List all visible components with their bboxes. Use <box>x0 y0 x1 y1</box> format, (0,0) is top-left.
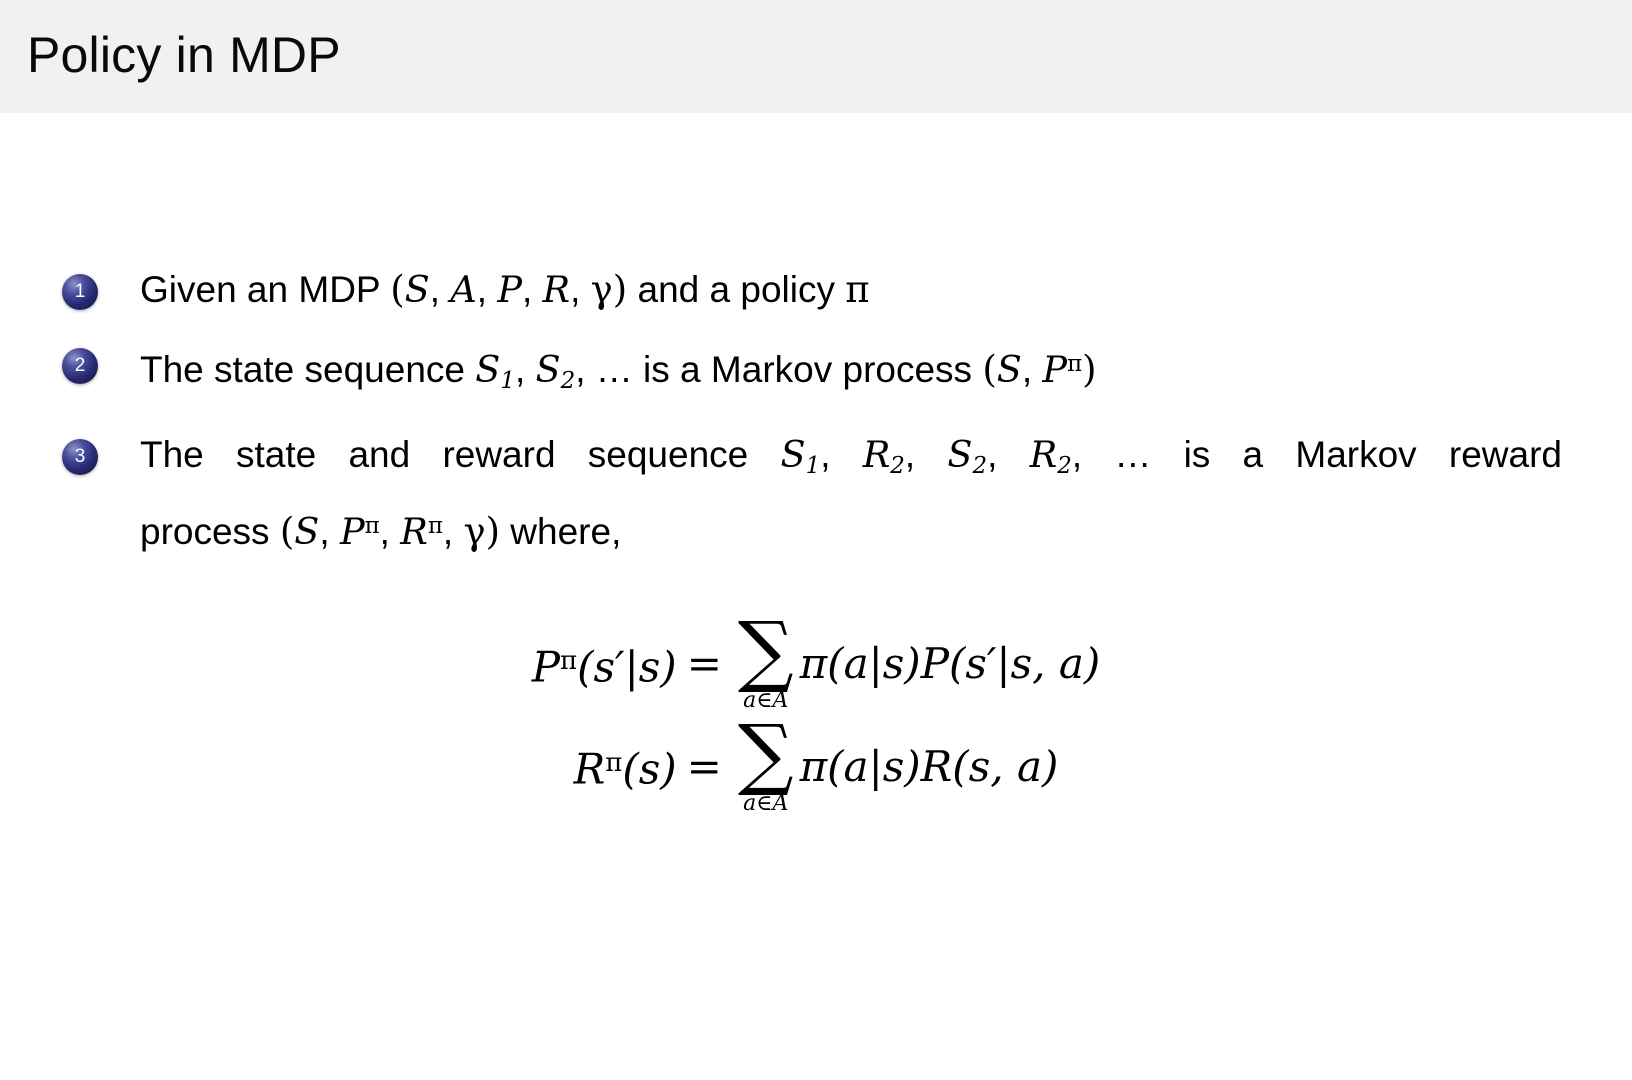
bullet-number-ball-icon: 1 <box>62 274 98 310</box>
list-item: 3 The state and reward sequence S1, R2, … <box>62 425 1562 562</box>
math-symbol-R: R <box>543 268 571 311</box>
math-paren-close: ) <box>613 268 627 311</box>
math-superscript-pi: π <box>1067 351 1082 377</box>
equation-transition-kernel: Pπ(s′|s) = ∑ a∈A π(a|s)P(s′|s, a) <box>0 613 1632 715</box>
math-subscript-1: 1 <box>500 368 515 394</box>
math-subscript-2: 2 <box>973 453 988 479</box>
enumerated-list: 1 Given an MDP (S, A, P, R, γ) and a pol… <box>62 260 1562 576</box>
text-run: , <box>987 434 1030 475</box>
text-run: , <box>570 269 591 310</box>
math-symbol-pi: π <box>845 268 869 311</box>
equation-lhs-args: (s) <box>622 745 676 794</box>
math-symbol-S: S <box>475 348 500 391</box>
list-item: 2 The state sequence S1, S2, … is a Mark… <box>62 334 1562 411</box>
equation-row: Pπ(s′|s) = ∑ a∈A π(a|s)P(s′|s, a) <box>532 613 1101 715</box>
equation-reward-function: Rπ(s) = ∑ a∈A π(a|s)R(s, a) <box>0 715 1632 817</box>
text-run: , <box>430 269 451 310</box>
math-subscript-2: 2 <box>890 453 905 479</box>
bullet-number-ball-icon: 3 <box>62 439 98 475</box>
math-superscript-pi: π <box>428 513 443 539</box>
text-run: , <box>380 511 401 552</box>
math-paren-open: ( <box>982 348 996 391</box>
math-symbol-S: S <box>536 348 561 391</box>
math-symbol-gamma: γ <box>591 268 613 311</box>
equation-lhs: Rπ(s) <box>574 715 677 817</box>
math-symbol-S: S <box>997 348 1022 391</box>
math-paren-close: ) <box>486 510 500 553</box>
math-symbol-S: S <box>294 510 319 553</box>
math-symbol-A: A <box>450 268 476 311</box>
text-run: , <box>905 434 948 475</box>
page-title: Policy in MDP <box>27 22 341 88</box>
text-run: process <box>140 511 280 552</box>
slide-body: 1 Given an MDP (S, A, P, R, γ) and a pol… <box>0 113 1632 1080</box>
math-symbol-S: S <box>781 433 806 476</box>
text-run: Given an MDP <box>140 269 390 310</box>
math-symbol-R: R <box>1030 433 1058 476</box>
summation-icon: ∑ <box>738 615 794 687</box>
equation-rhs: π(a|s)R(s, a) <box>800 719 1059 815</box>
equation-relation: = <box>677 719 732 815</box>
display-equations: Pπ(s′|s) = ∑ a∈A π(a|s)P(s′|s, a) Rπ(s) … <box>0 613 1632 818</box>
math-symbol-S: S <box>405 268 430 311</box>
equation-lhs-base: R <box>574 745 606 794</box>
math-symbol-P: P <box>497 268 522 311</box>
summation-icon: ∑ <box>738 718 794 790</box>
equation-row: Rπ(s) = ∑ a∈A π(a|s)R(s, a) <box>574 715 1059 817</box>
text-run: , <box>515 349 536 390</box>
math-superscript-pi: π <box>365 513 380 539</box>
math-subscript-2: 2 <box>1057 453 1072 479</box>
list-item: 1 Given an MDP (S, A, P, R, γ) and a pol… <box>62 260 1562 320</box>
summation-subscript: a∈A <box>743 792 788 816</box>
math-symbol-R: R <box>863 433 891 476</box>
math-subscript-2: 2 <box>561 368 576 394</box>
equation-lhs-superscript: π <box>560 646 577 676</box>
list-item-text: Given an MDP (S, A, P, R, γ) and a polic… <box>140 260 1562 320</box>
list-item-line: The state sequence S1, S2, … is a Markov… <box>140 334 1562 411</box>
text-run: , <box>1022 349 1043 390</box>
math-symbol-gamma: γ <box>463 510 485 553</box>
text-run: , <box>522 269 543 310</box>
text-run: The state and reward sequence <box>140 434 781 475</box>
list-item-line: process (S, Pπ, Rπ, γ) where, <box>140 496 1562 562</box>
text-run: , <box>820 434 863 475</box>
text-run: , <box>477 269 498 310</box>
text-run: The state sequence <box>140 349 475 390</box>
list-item-line: Given an MDP (S, A, P, R, γ) and a polic… <box>140 260 1562 320</box>
equation-relation: = <box>677 616 732 712</box>
math-paren-open: ( <box>280 510 294 553</box>
math-paren-close: ) <box>1082 348 1096 391</box>
summation-block: ∑ a∈A <box>738 718 794 816</box>
list-item-text: The state and reward sequence S1, R2, S2… <box>140 425 1562 562</box>
bullet-number-ball-icon: 2 <box>62 348 98 384</box>
math-symbol-P: P <box>1042 348 1067 391</box>
list-item-line: The state and reward sequence S1, R2, S2… <box>140 425 1562 496</box>
text-run: , <box>443 511 464 552</box>
text-run: , … is a Markov process <box>575 349 982 390</box>
text-run: and a policy <box>627 269 845 310</box>
text-run: , … is a Markov reward <box>1072 434 1562 475</box>
text-run: where, <box>500 511 621 552</box>
list-item-text: The state sequence S1, S2, … is a Markov… <box>140 334 1562 411</box>
equation-rhs: π(a|s)P(s′|s, a) <box>800 616 1101 712</box>
equation-lhs-args: (s′|s) <box>577 642 677 691</box>
math-paren-open: ( <box>390 268 404 311</box>
math-symbol-R: R <box>400 510 428 553</box>
math-symbol-S: S <box>947 433 972 476</box>
summation-block: ∑ a∈A <box>738 615 794 713</box>
math-symbol-P: P <box>340 510 365 553</box>
math-subscript-1: 1 <box>806 453 821 479</box>
slide-header-band: Policy in MDP <box>0 0 1632 113</box>
text-run: , <box>319 511 340 552</box>
equation-lhs: Pπ(s′|s) <box>532 613 677 715</box>
equation-lhs-superscript: π <box>605 748 622 778</box>
equation-lhs-base: P <box>532 642 560 691</box>
